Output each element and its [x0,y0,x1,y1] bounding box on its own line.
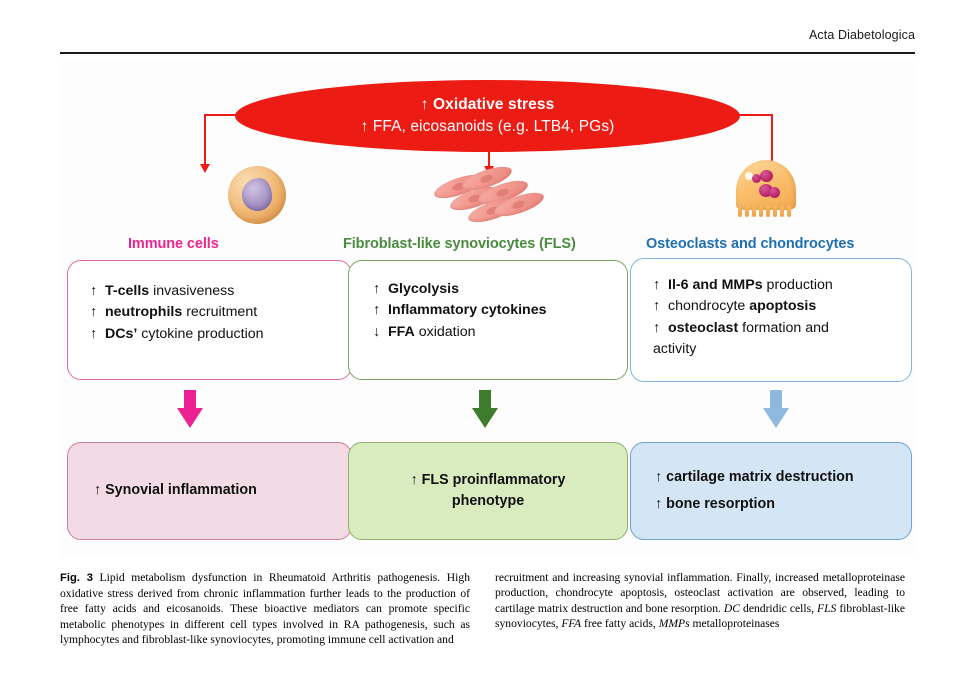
list-item: ↑T-cells invasiveness [90,281,351,302]
osteoclast-body [736,160,796,222]
detail-box-immune: ↑T-cells invasiveness ↑neutrophils recru… [67,260,352,380]
osteoclast-ruffled-border [738,206,794,218]
caption-figure-label: Fig. 3 [60,572,93,584]
detail-box-osteoclast: ↑Il-6 and MMPs production ↑chondrocyte a… [630,258,912,382]
outcome-box-osteoclast: ↑ cartilage matrix destruction ↑ bone re… [630,442,912,540]
up-arrow-icon: ↑ [90,324,105,345]
outcome-box-immune: ↑ Synovial inflammation [67,442,352,540]
list-item-rest: chondrocyte [668,298,749,314]
outcome-box-fls: ↑ FLS proinflammatory phenotype [348,442,628,540]
list-item-rest: oxidation [415,324,476,340]
up-arrow-icon: ↑ [373,300,388,321]
flow-arrow-osteoclast [763,390,789,428]
page-root: Acta Diabetologica ↑ Oxidative stress ↑ … [0,0,975,688]
abbr-dc-def: dendridic cells, [740,602,817,615]
list-item-rest: cytokine production [137,326,263,342]
flow-arrow-fls [472,390,498,428]
list-item-bold: neutrophils [105,304,182,320]
list-item-rest: invasiveness [149,283,234,299]
list-item-rest: production [763,277,833,293]
list-item-bold: apoptosis [749,298,816,314]
list-item-rest: recruitment [182,304,257,320]
outcome-line: ↑ Synovial inflammation [94,480,257,501]
up-arrow-icon: ↑ [90,281,105,302]
list-item-bold: Il-6 and MMPs [668,277,763,293]
list-item: ↑neutrophils recruitment [90,302,351,323]
caption-left-body: Lipid metabolism dysfunction in Rheumato… [60,571,470,646]
list-item-bold: DCs’ [105,326,137,342]
list-item-bold: T-cells [105,283,149,299]
list-item: ↓FFA oxidation [373,322,627,343]
list-item: ↑chondrocyte apoptosis [653,296,911,317]
fibroblast-cluster [431,164,535,228]
header-rule [60,52,915,54]
flow-arrow-immune [177,390,203,428]
source-node-line2: ↑ FFA, eicosanoids (e.g. LTB4, PGs) [361,116,615,138]
abbr-dc: DC [724,602,740,615]
oxidative-stress-node: ↑ Oxidative stress ↑ FFA, eicosanoids (e… [235,80,740,152]
osteoclast-icon [710,158,820,228]
list-item-bold: osteoclast [668,320,738,336]
abbr-ffa: FFA [561,617,581,630]
column-heading-fls: Fibroblast-like synoviocytes (FLS) [343,236,576,252]
list-item-bold: Inflammatory cytokines [388,302,546,318]
abbr-mmps: MMPs [659,617,690,630]
journal-running-head: Acta Diabetologica [60,28,915,42]
figure-canvas: ↑ Oxidative stress ↑ FFA, eicosanoids (e… [60,62,915,557]
fibroblast-cells-icon [425,162,535,232]
list-item-bold: FFA [388,324,415,340]
list-item: ↑Il-6 and MMPs production [653,275,911,296]
list-item: ↑Glycolysis [373,279,627,300]
up-arrow-icon: ↑ [653,296,668,317]
up-arrow-icon: ↑ [653,275,668,296]
list-item: ↑DCs’ cytokine production [90,324,351,345]
outcome-line: ↑ FLS proinflammatory [411,470,566,491]
outcome-line: phenotype [411,491,566,512]
list-item-rest: formation and [738,320,829,336]
abbr-fls: FLS [817,602,836,615]
abbr-mmps-def: metalloproteinases [690,617,780,630]
immune-cell-body [228,166,286,224]
column-heading-immune: Immune cells [128,236,219,252]
list-item: ↑osteoclast formation and [653,318,911,339]
up-arrow-icon: ↑ [373,279,388,300]
list-item-continuation: activity [653,339,911,360]
column-heading-osteoclast: Osteoclasts and chondrocytes [646,236,854,252]
outcome-line: ↑ bone resorption [655,491,854,518]
outcome-line: ↑ cartilage matrix destruction [655,464,854,491]
up-arrow-icon: ↑ [90,302,105,323]
detail-box-fls: ↑Glycolysis ↑Inflammatory cytokines ↓FFA… [348,260,628,380]
up-arrow-icon: ↑ [653,318,668,339]
abbr-ffa-def: free fatty acids, [581,617,659,630]
immune-cell-nucleus [242,178,272,211]
source-node-line1: ↑ Oxidative stress [421,94,555,116]
caption-column-left: Fig. 3 Lipid metabolism dysfunction in R… [60,570,470,648]
immune-cell-icon [200,162,310,232]
list-item-bold: Glycolysis [388,281,459,297]
list-item: ↑Inflammatory cytokines [373,300,627,321]
caption-column-right: recruitment and increasing synovial infl… [495,570,905,632]
down-arrow-icon: ↓ [373,322,388,343]
